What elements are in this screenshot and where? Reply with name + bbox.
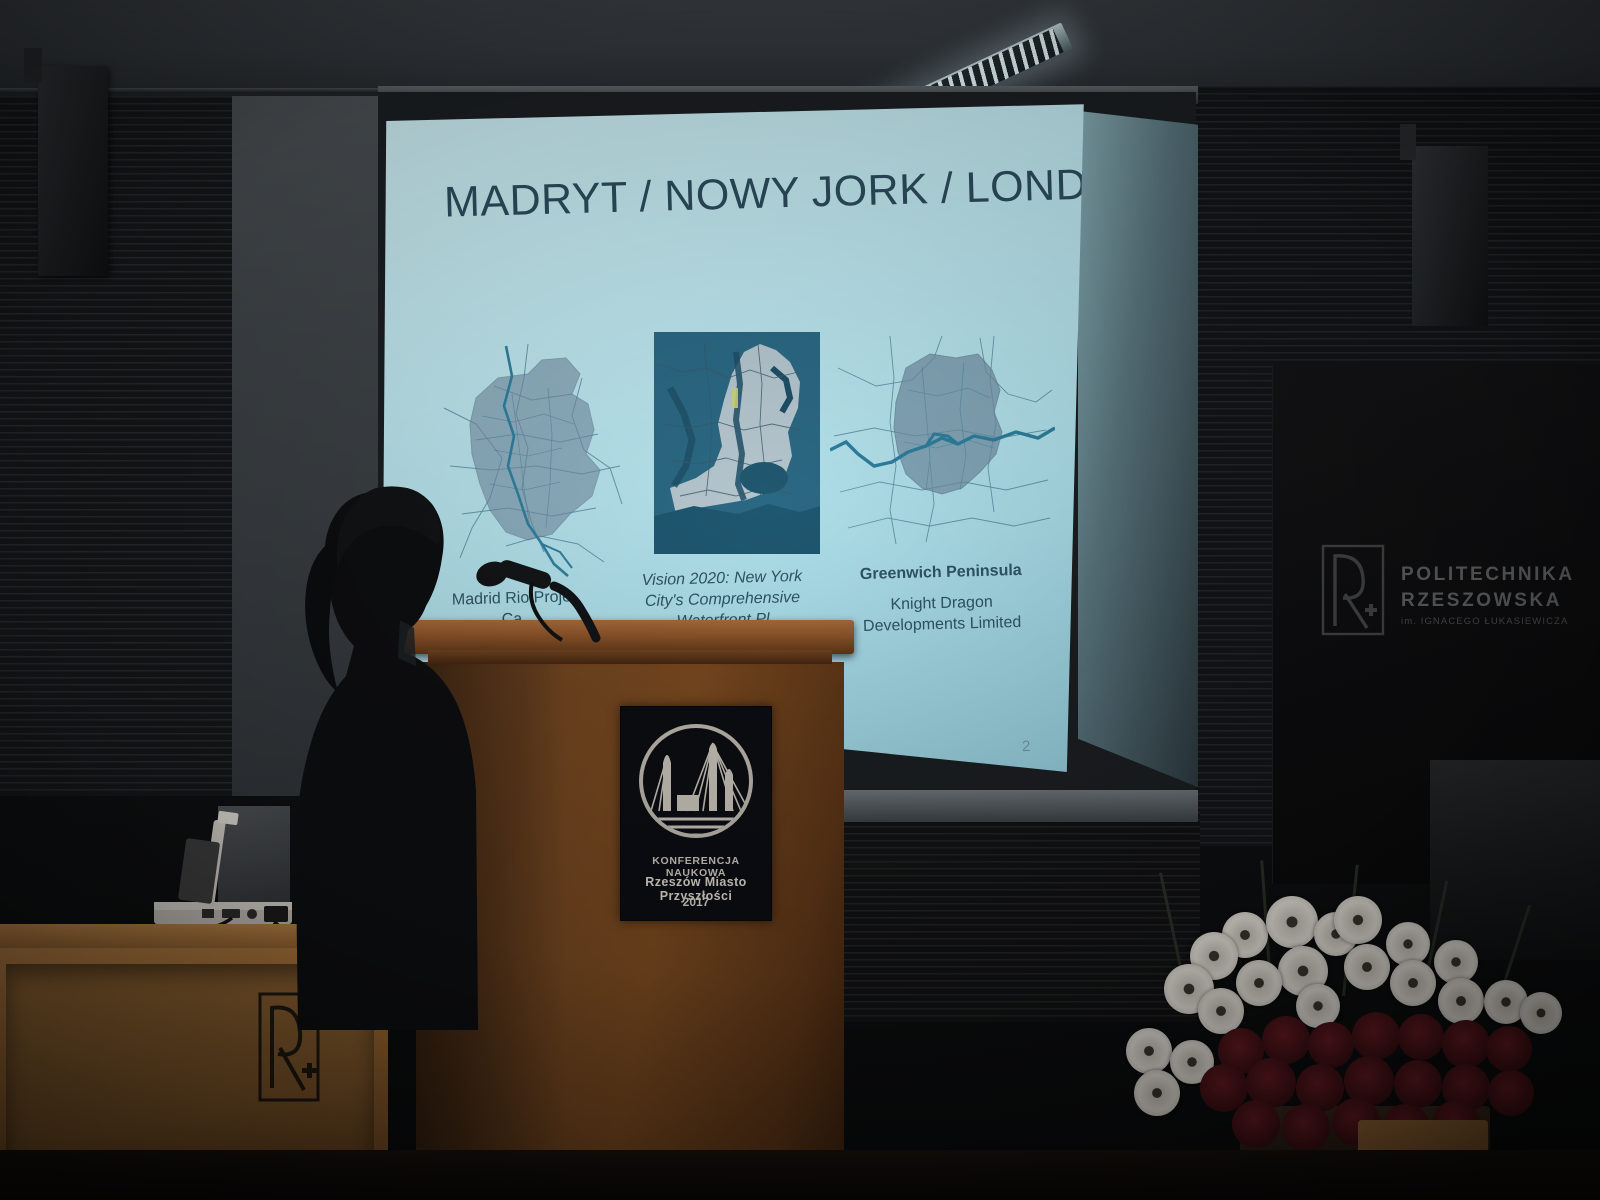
london-map-svg [830, 332, 1055, 547]
slide-number: 2 [1022, 738, 1031, 755]
conference-photo: MADRYT / NOWY JORK / LONDYN [0, 0, 1600, 1200]
white-flower [1266, 896, 1318, 948]
pr-monogram-banner [1321, 544, 1385, 636]
plaque-line-3: 2017 [621, 895, 771, 909]
presenter-svg [280, 470, 500, 1030]
white-flower [1236, 960, 1282, 1006]
floor [0, 1150, 1600, 1200]
white-flower [1134, 1070, 1180, 1116]
london-caption-line3: Developments Limited [863, 614, 1022, 635]
london-map [830, 332, 1055, 547]
ny-caption-line1: Vision 2020: New York [642, 568, 803, 589]
london-caption-line1: Greenwich Peninsula [860, 562, 1022, 583]
white-flower [1126, 1028, 1172, 1074]
presenter-silhouette [280, 470, 500, 1030]
white-flower [1438, 978, 1484, 1024]
red-flower [1398, 1014, 1444, 1060]
red-flower [1486, 1026, 1532, 1072]
speaker-bracket-right [1400, 124, 1416, 160]
wall-speaker-right [1412, 146, 1488, 326]
london-caption-line2: Knight Dragon [890, 594, 993, 614]
red-flower [1232, 1100, 1280, 1148]
new-york-map-svg [640, 328, 820, 558]
red-flower [1442, 1020, 1490, 1068]
document-camera-svg [148, 806, 298, 934]
screen-bottom-bar [836, 790, 1198, 822]
document-camera [148, 806, 298, 934]
white-flower [1334, 896, 1382, 944]
white-flower [1390, 960, 1436, 1006]
ny-caption-line2: City's Comprehensive [645, 589, 801, 610]
red-flower [1308, 1022, 1354, 1068]
flower-arrangement [1090, 860, 1600, 1200]
red-flower [1262, 1016, 1310, 1064]
university-logo-banner [1321, 544, 1385, 636]
london-caption: Greenwich Peninsula Knight Dragon Develo… [833, 559, 1050, 638]
white-flower [1198, 988, 1244, 1034]
banner-line-1: POLITECHNIKA [1401, 564, 1575, 586]
red-flower [1394, 1060, 1442, 1108]
red-flower [1488, 1070, 1534, 1116]
white-flower [1344, 944, 1390, 990]
white-flower [1520, 992, 1562, 1034]
bridge-skyline-emblem [637, 719, 755, 847]
slide-title: MADRYT / NOWY JORK / LONDYN [443, 161, 1064, 227]
red-flower [1352, 1012, 1400, 1060]
screen-unlit-area [1078, 104, 1198, 794]
conference-plaque: KONFERENCJA NAUKOWA Rzeszów Miasto Przys… [620, 706, 772, 921]
banner-line-2: RZESZOWSKA [1401, 590, 1562, 612]
ceiling [0, 0, 1600, 92]
red-flower [1282, 1104, 1330, 1152]
banner-line-3: im. IGNACEGO ŁUKASIEWICZA [1401, 616, 1568, 627]
new-york-map [640, 328, 820, 558]
conference-emblem [637, 719, 755, 847]
speaker-bracket-left [24, 48, 42, 82]
wall-panel-left [0, 96, 232, 796]
wall-speaker-left [38, 66, 108, 276]
